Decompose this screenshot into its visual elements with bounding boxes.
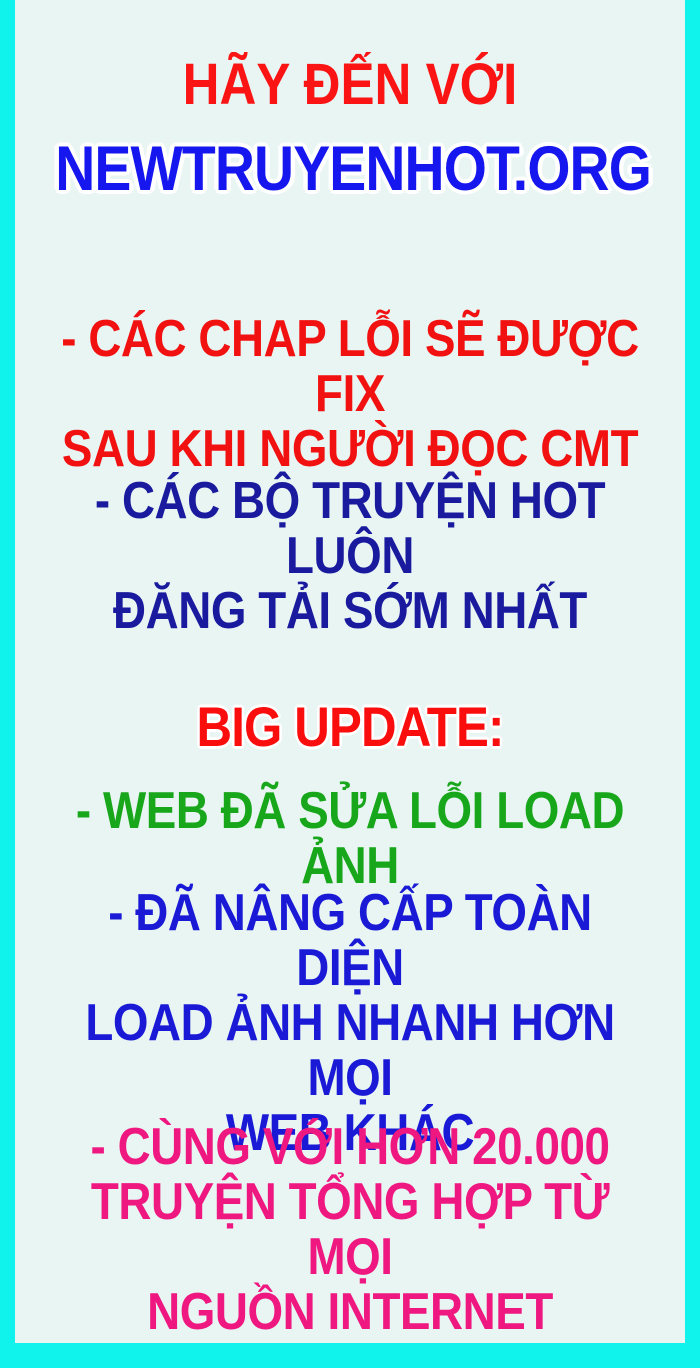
bullet-truyen-hot-som-nhat: - CÁC BỘ TRUYỆN HOT LUÔN ĐĂNG TẢI SỚM NH… [55,474,645,639]
site-domain-newtruyenhot[interactable]: NEWTRUYENHOT.ORG [55,136,645,203]
bullet-cung-voi-hon-20000-truyen: - CÙNG VỚI HƠN 20.000 TRUYỆN TỔNG HỢP TỪ… [55,1120,645,1340]
heading-big-update: BIG UPDATE: [55,697,645,756]
promo-poster: HÃY ĐẾN VỚI NEWTRUYENHOT.ORG - CÁC CHAP … [0,0,700,1368]
bullet-chap-loi-fix: - CÁC CHAP LỖI SẼ ĐƯỢC FIX SAU KHI NGƯỜI… [55,312,645,477]
bullet-web-da-sua-loi-load-anh: - WEB ĐÃ SỬA LỖI LOAD ẢNH [55,784,645,894]
poster-content-panel: HÃY ĐẾN VỚI NEWTRUYENHOT.ORG - CÁC CHAP … [15,0,685,1343]
headline-hay-den-voi: HÃY ĐẾN VỚI [55,54,645,115]
